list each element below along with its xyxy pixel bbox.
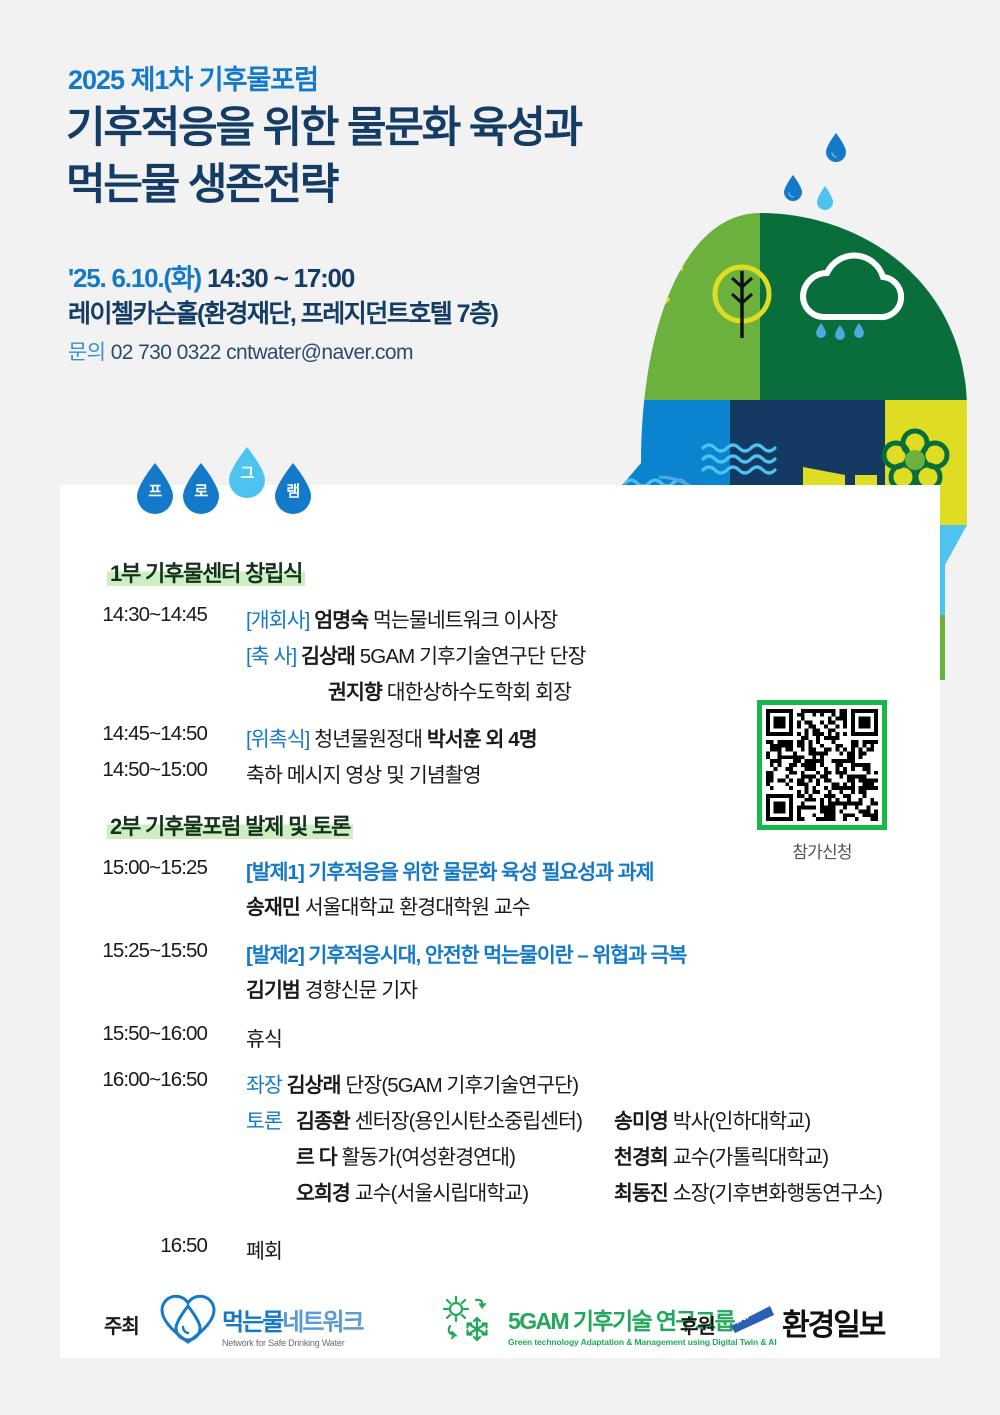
panel-time: 16:00~16:50: [62, 1068, 207, 1092]
row-affiliation: 대한상하수도학회 회장: [387, 681, 571, 704]
sponsor-label: 후원: [680, 1310, 715, 1339]
sun-icon: [583, 217, 683, 317]
session-topic: [발제2] 기후적응시대, 안전한 먹는물이란 – 위협과 극복: [246, 938, 686, 968]
program-badge-drop-3: 그: [227, 446, 267, 498]
panelist-affiliation: 활동가(여성환경연대): [342, 1146, 516, 1169]
panelist-affiliation: 소장(기후변화행동연구소): [673, 1182, 882, 1205]
row-time: 14:50~15:00: [62, 758, 207, 782]
chair-affiliation: 단장(5GAM 기후기술연구단): [345, 1074, 578, 1097]
program-badge-drop-2: 로: [181, 462, 221, 514]
panelist-right: 최동진 소장(기후변화행동연구소): [614, 1176, 882, 1206]
row-speaker: 김기범: [246, 979, 300, 1002]
logo-hwankyungilbo-text: 환경일보: [782, 1300, 884, 1344]
panelist-affiliation: 박사(인하대학교): [673, 1110, 811, 1133]
program-badge-letter: 로: [181, 480, 221, 501]
chair-name: 김상래: [287, 1074, 341, 1097]
program-badge: 프 로 그 램: [135, 462, 313, 514]
panelist-name: 송미영: [614, 1110, 668, 1133]
row-speaker: 엄명숙: [314, 609, 368, 632]
panelist-affiliation: 센터장(용인시탄소중립센터): [355, 1110, 582, 1133]
row-content: 송재민 서울대학교 환경대학원 교수: [246, 890, 530, 920]
program-badge-drop-4: 램: [273, 462, 313, 514]
contact-info: 문의 02 730 0322 cntwater@naver.com: [68, 336, 413, 366]
row-speaker: 권지향: [328, 681, 382, 704]
panelist-name: 최동진: [614, 1182, 668, 1205]
page-title: 기후적응을 위한 물문화 육성과 먹는물 생존전략: [66, 100, 581, 214]
program-badge-letter: 램: [273, 480, 313, 501]
panelist-affiliation: 교수(가톨릭대학교): [673, 1146, 829, 1169]
row-affiliation: 5GAM 기후기술연구단 단장: [360, 645, 586, 668]
logo1-name-secondary: 네트워크: [282, 1309, 362, 1336]
event-date: '25. 6.10.(화): [68, 263, 201, 293]
panelist-affiliation: 교수(서울시립대학교): [355, 1182, 529, 1205]
panelist-right: 천경희 교수(가톨릭대학교): [614, 1140, 828, 1170]
registration-qr[interactable]: 참가신청: [757, 700, 887, 863]
row-content: 권지향 대한상하수도학회 회장: [328, 675, 571, 705]
panel-chair-row: 좌장 김상래 단장(5GAM 기후기술연구단): [246, 1068, 578, 1098]
closing-time: 16:50: [62, 1234, 207, 1258]
qr-code-box[interactable]: [757, 700, 887, 830]
row-tag: [위촉식]: [246, 728, 309, 751]
event-datetime: '25. 6.10.(화) 14:30 ~ 17:00: [68, 258, 354, 295]
row-affiliation: 경향신문 기자: [305, 979, 418, 1002]
qr-caption: 참가신청: [757, 838, 887, 863]
panelist-left: 르 다 활동가(여성환경연대): [296, 1140, 515, 1170]
panelist-name: 오희경: [296, 1182, 350, 1205]
host-label: 주최: [104, 1310, 139, 1339]
row-time: 14:30~14:45: [62, 603, 207, 627]
row-affiliation: 서울대학교 환경대학원 교수: [305, 896, 530, 919]
panelist-name: 천경희: [614, 1146, 668, 1169]
logo1-name-primary: 먹는물: [222, 1309, 282, 1336]
panelist-right: 송미영 박사(인하대학교): [614, 1104, 810, 1134]
row-content: 김기범 경향신문 기자: [246, 973, 417, 1003]
qr-code-image[interactable]: [766, 709, 878, 821]
logo-5gam-mark-icon: [440, 1296, 500, 1347]
discuss-label-wrap: 토론: [246, 1104, 282, 1134]
poster-root: 2025 제1차 기후물포럼 기후적응을 위한 물문화 육성과 먹는물 생존전략…: [0, 0, 1000, 1415]
panelist-name: 르 다: [296, 1146, 337, 1169]
row-tag: [축 사]: [246, 645, 296, 668]
logo-network-text: 먹는물네트워크 Network for Safe Drinking Water: [222, 1302, 363, 1348]
panelist-left: 오희경 교수(서울시립대학교): [296, 1176, 528, 1206]
contact-value: 02 730 0322 cntwater@naver.com: [111, 341, 413, 364]
logo-heart-drop-icon: [160, 1294, 216, 1351]
water-drop-icon: [825, 133, 847, 163]
event-kicker: 2025 제1차 기후물포럼: [68, 58, 318, 97]
discuss-label: 토론: [246, 1110, 282, 1133]
panelist-left: 김종환 센터장(용인시탄소중립센터): [296, 1104, 582, 1134]
row-content: 축하 메시지 영상 및 기념촬영: [246, 758, 481, 788]
logo3-name: 환경일보: [782, 1300, 884, 1344]
footer-logos: 주최 먹는물네트워크 Network for Safe Drinking Wat…: [60, 1288, 940, 1358]
row-content: [축 사] 김상래 5GAM 기후기술연구단 단장: [246, 639, 586, 669]
row-prefix: 청년물원정대: [314, 728, 422, 751]
event-venue: 레이첼카슨홀(환경재단, 프레지던트호텔 7층): [68, 294, 497, 330]
section-heading-part2: 2부 기후물포럼 발제 및 토론: [104, 808, 358, 842]
session-topic: [발제1] 기후적응을 위한 물문화 육성 필요성과 과제: [246, 855, 653, 885]
logo1-subtitle: Network for Safe Drinking Water: [222, 1338, 363, 1348]
row-content: [위촉식] 청년물원정대 박서훈 외 4명: [246, 722, 537, 752]
program-badge-drop-1: 프: [135, 462, 175, 514]
row-time: 15:50~16:00: [62, 1022, 207, 1046]
chair-label: 좌장: [246, 1074, 282, 1097]
row-time: 15:25~15:50: [62, 939, 207, 963]
panelist-name: 김종환: [296, 1110, 350, 1133]
row-time: 15:00~15:25: [62, 856, 207, 880]
row-speaker: 김상래: [301, 645, 355, 668]
row-tag: [개회사]: [246, 609, 309, 632]
closing-label: 폐회: [246, 1234, 282, 1264]
program-badge-letter: 프: [135, 480, 175, 501]
program-badge-letter: 그: [227, 462, 267, 483]
contact-label: 문의: [68, 341, 105, 364]
event-time: 14:30 ~ 17:00: [207, 263, 354, 293]
section-heading-part1: 1부 기후물센터 창립식: [104, 555, 310, 589]
row-speaker: 박서훈 외 4명: [427, 728, 537, 751]
row-time: 14:45~14:50: [62, 722, 207, 746]
logo-iki-mark-icon: IKI: [728, 1304, 776, 1339]
row-speaker: 송재민: [246, 896, 300, 919]
row-affiliation: 먹는물네트워크 이사장: [373, 609, 557, 632]
row-affiliation: 축하 메시지 영상 및 기념촬영: [246, 764, 481, 787]
row-content: 휴식: [246, 1022, 282, 1052]
water-drop-icon: [783, 175, 803, 202]
row-content: [개회사] 엄명숙 먹는물네트워크 이사장: [246, 603, 557, 633]
